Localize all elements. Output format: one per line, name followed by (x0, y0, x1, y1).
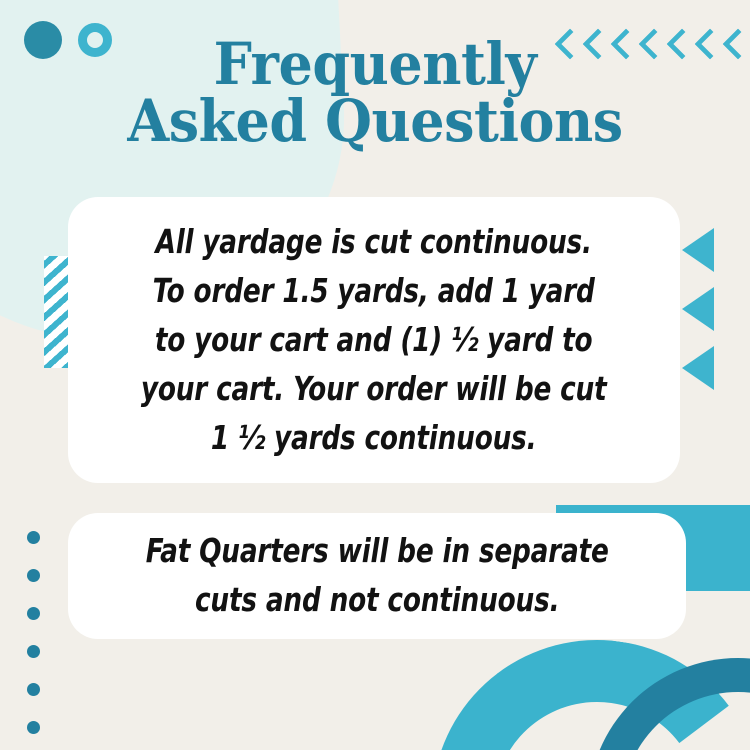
faq-line: All yardage is cut continuous. (141, 218, 607, 267)
faq-line: To order 1.5 yards, add 1 yard (141, 267, 607, 316)
page-title: Frequently Asked Questions (26, 36, 724, 150)
column-dot (27, 645, 40, 658)
faq-line: 1 ½ yards continuous. (141, 414, 607, 463)
diagonal-stripes-decoration (44, 256, 70, 368)
faq-card-2: Fat Quarters will be in separate cuts an… (68, 513, 686, 639)
column-dot (27, 531, 40, 544)
title-line-2: Asked Questions (26, 93, 724, 150)
faq-line: cuts and not continuous. (146, 576, 609, 625)
faq-line: your cart. Your order will be cut (141, 365, 607, 414)
faq-line: to your cart and (1) ½ yard to (141, 316, 607, 365)
triangle-left-icon (682, 346, 714, 390)
title-line-1: Frequently (26, 36, 724, 93)
column-dot (27, 683, 40, 696)
faq-card-2-text: Fat Quarters will be in separate cuts an… (146, 527, 609, 625)
column-dot (27, 569, 40, 582)
triangle-left-icon (682, 228, 714, 272)
column-dot (27, 607, 40, 620)
faq-card-1: All yardage is cut continuous. To order … (68, 197, 680, 483)
triangle-left-icon (682, 287, 714, 331)
faq-graphic-canvas: Frequently Asked Questions All yardage i… (0, 0, 750, 750)
chevron-left-icon (722, 28, 750, 59)
column-dot (27, 721, 40, 734)
faq-line: Fat Quarters will be in separate (146, 527, 609, 576)
faq-card-1-text: All yardage is cut continuous. To order … (141, 218, 607, 463)
